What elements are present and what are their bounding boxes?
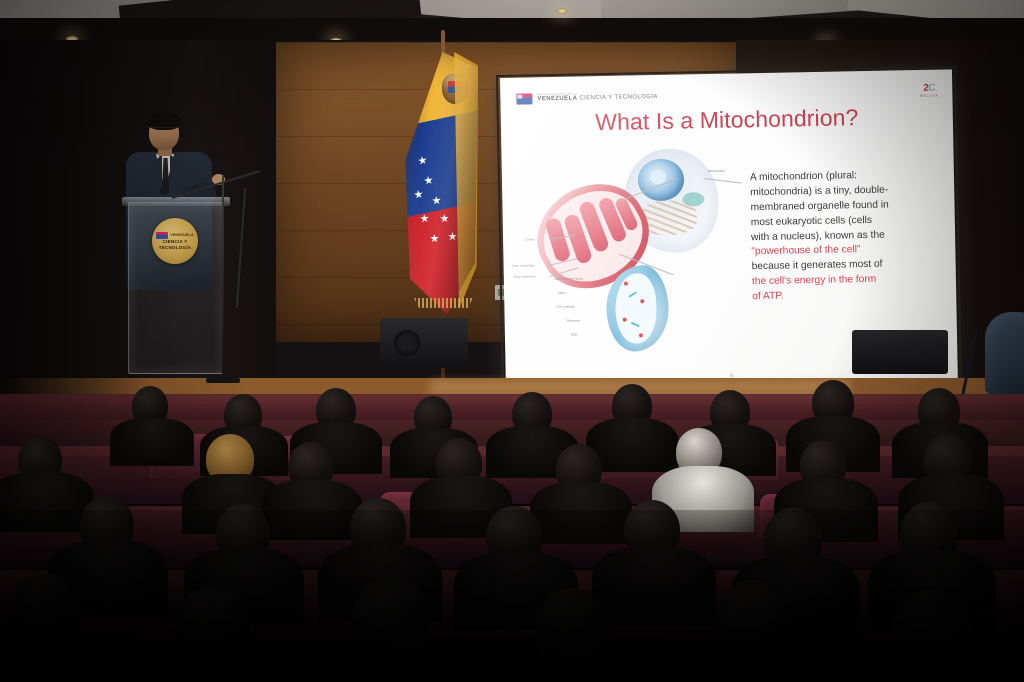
emblem-ministry-line1: CIENCIA Y bbox=[163, 240, 188, 245]
microphone-icon bbox=[160, 186, 169, 195]
emblem-ministry-line2: TECNOLOGÍA bbox=[159, 246, 192, 251]
audience bbox=[0, 360, 1024, 682]
lectern-top bbox=[122, 197, 230, 206]
flag-fringe bbox=[410, 298, 476, 308]
spotlight-icon bbox=[556, 8, 568, 14]
conference-photo-scene: REPÚBLICA BOLIVARIANA DE VENEZUELA CIENC… bbox=[0, 0, 1024, 682]
venezuela-flag-icon bbox=[156, 232, 168, 239]
audience-darkening bbox=[0, 510, 1024, 682]
eyeglasses-icon bbox=[151, 127, 177, 134]
audience-shoulders bbox=[110, 418, 194, 466]
lectern: VENEZUELA CIENCIA Y TECNOLOGÍA bbox=[128, 202, 224, 380]
venezuela-flag bbox=[404, 52, 478, 322]
emblem-country: VENEZUELA bbox=[170, 233, 194, 237]
lectern-emblem: VENEZUELA CIENCIA Y TECNOLOGÍA bbox=[152, 218, 198, 264]
microphone-stand bbox=[222, 176, 224, 382]
